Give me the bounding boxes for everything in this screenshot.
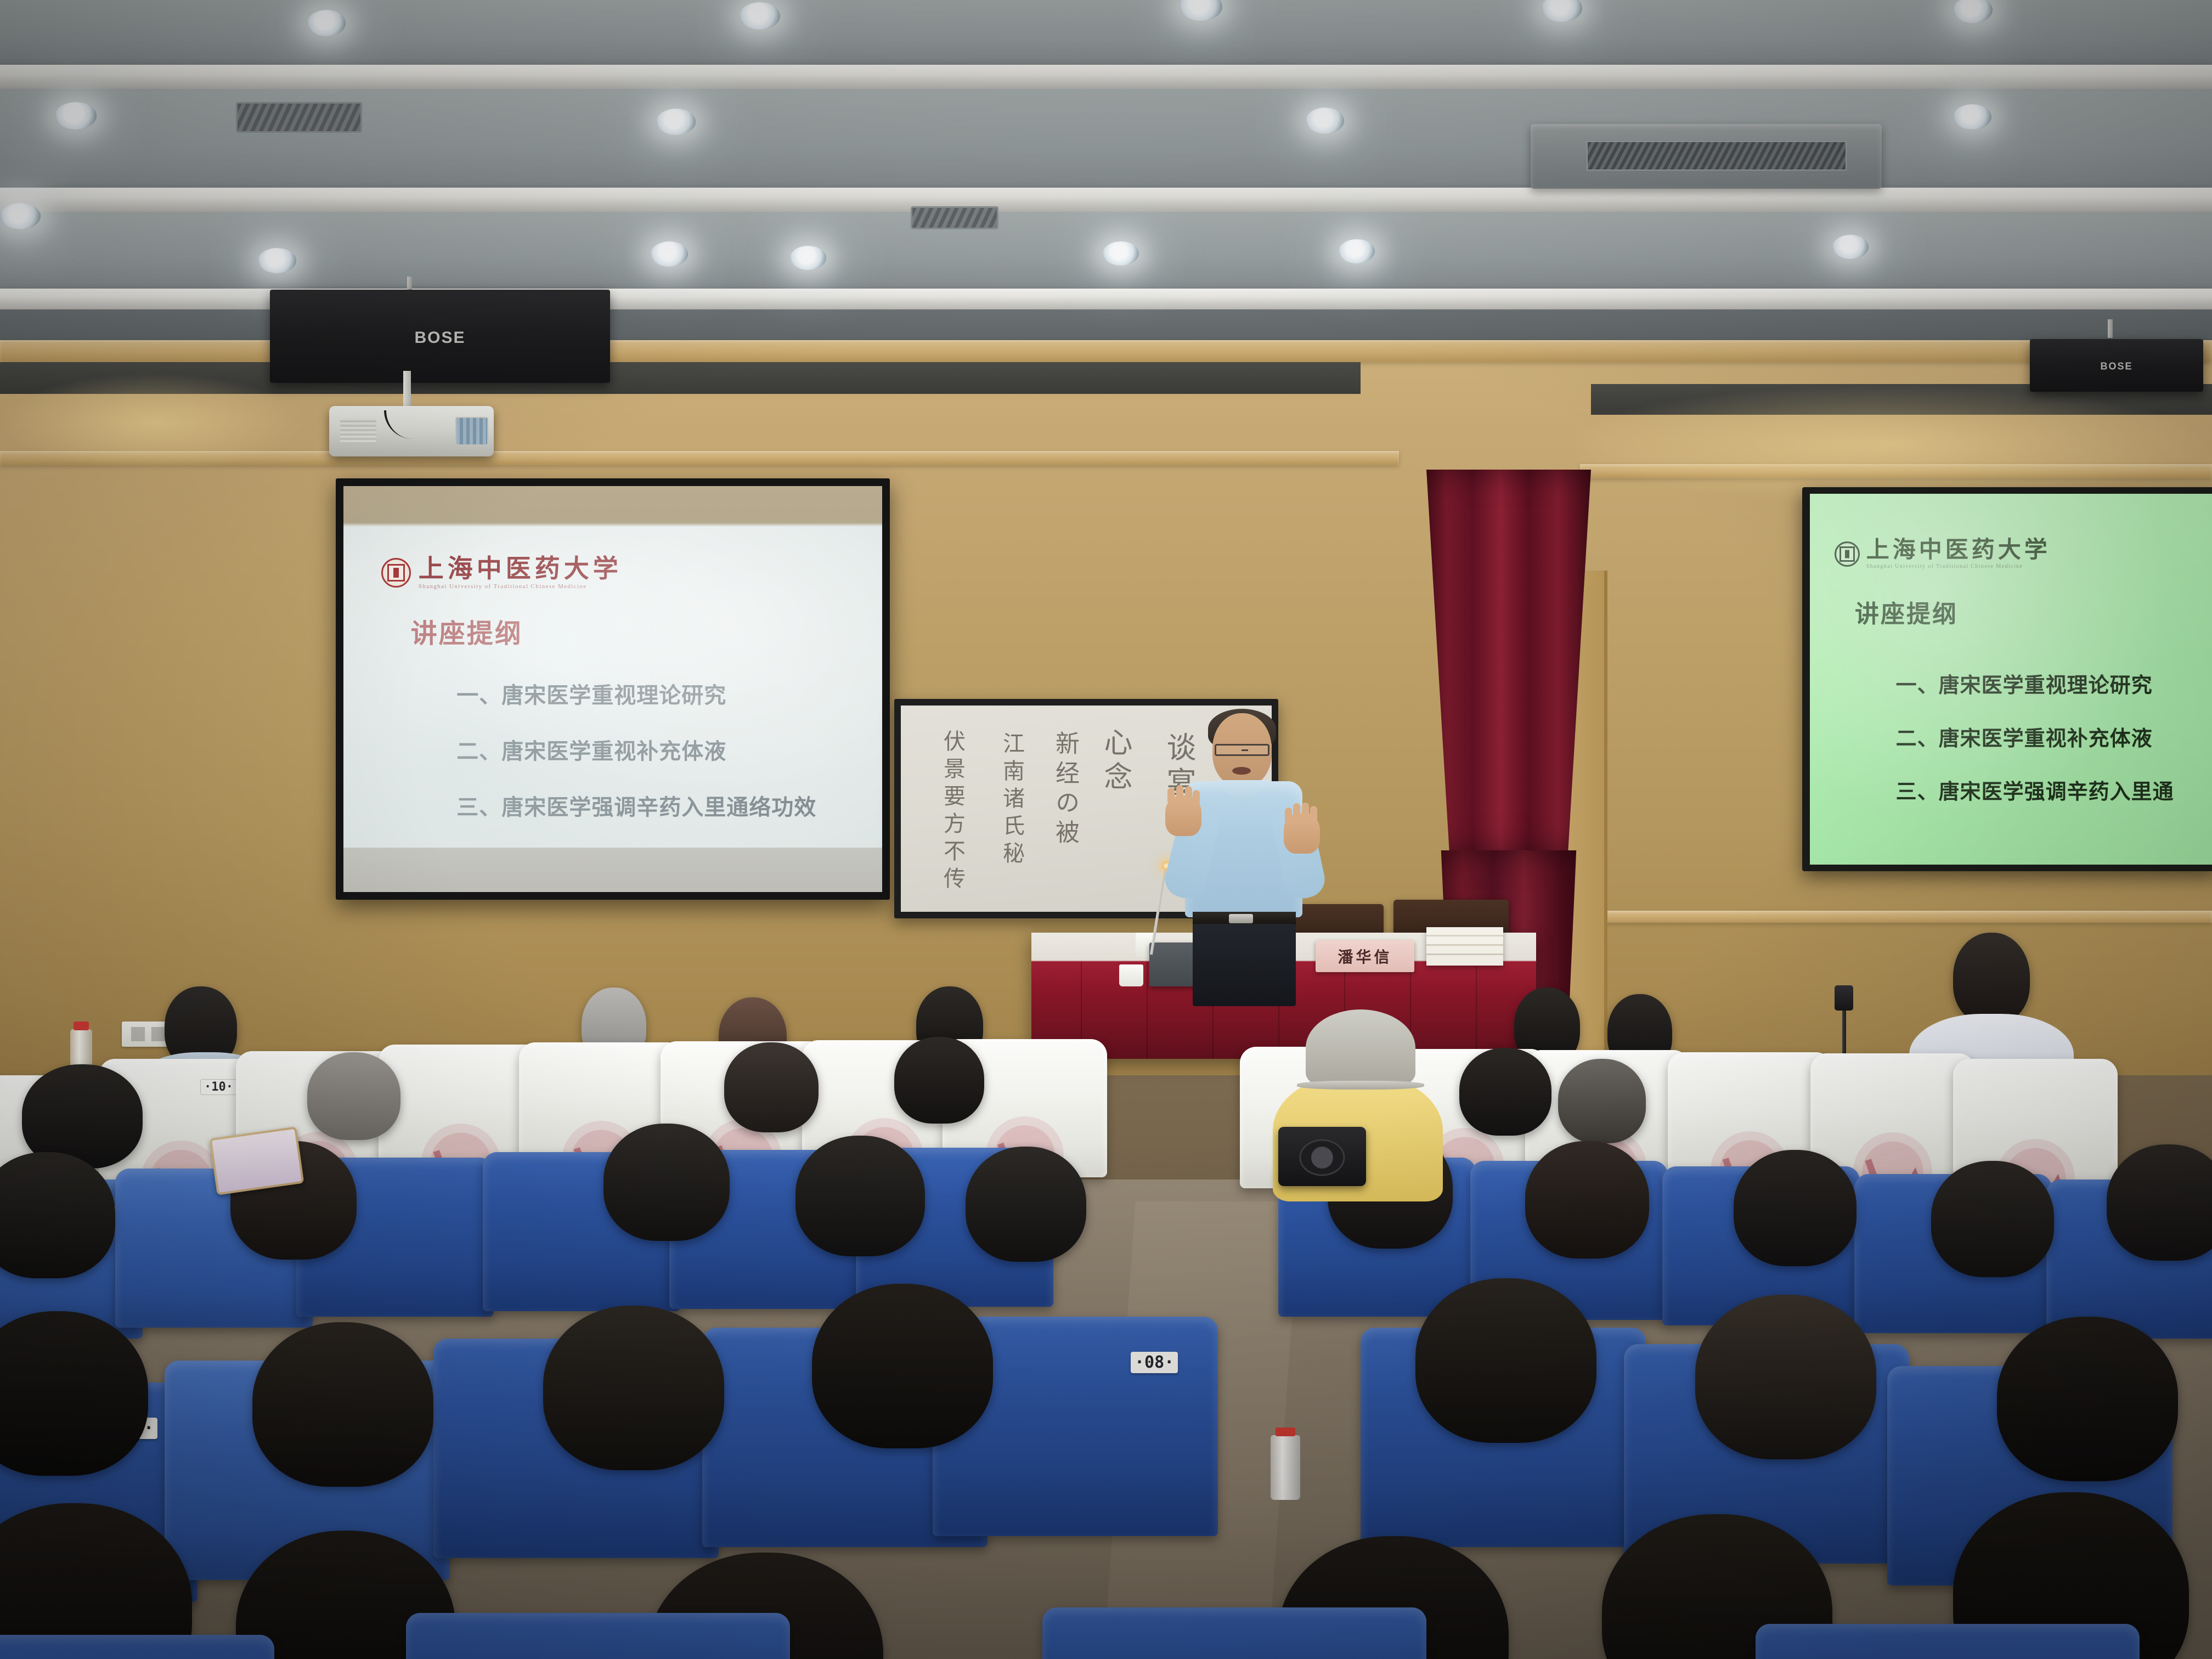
whiteboard-column: 心念 (1099, 727, 1131, 795)
audience-head (966, 1147, 1086, 1262)
slide-outline-item: 二、唐宋医学重视补充体液 (456, 733, 866, 765)
ceiling-downlight (307, 10, 346, 36)
whiteboard-column: 伏景要方不传 (940, 730, 964, 894)
slide-outline-item: 三、唐宋医学强调辛药入里通络功效 (456, 789, 866, 821)
stage-curtain-upper (1426, 470, 1591, 854)
wall-trim-mid (0, 451, 1399, 465)
phone-screen (212, 1129, 302, 1193)
camera-lens (1299, 1139, 1345, 1176)
audience-head (1931, 1161, 2054, 1277)
university-name-cn: 上海中医药大学 (1866, 538, 2051, 561)
wall-trim-right (1580, 464, 2212, 478)
hvac-cassette-slats (1587, 141, 1847, 171)
bose-logo-right: BOSE (2100, 360, 2132, 372)
presenter (1164, 713, 1329, 998)
auditorium-seat-foreground[interactable] (406, 1613, 790, 1659)
ceiling-downlight (740, 2, 780, 30)
slide-outline-item: 一、唐宋医学重视理论研究 (456, 678, 866, 709)
bose-speaker-left: BOSE (270, 290, 610, 383)
slide-outline-list: 一、唐宋医学重视理论研究 二、唐宋医学重视补充体液 三、唐宋医学强调辛药入里通络… (456, 678, 866, 845)
monitor-outline-item: 三、唐宋医学强调辛药入里通 (1896, 775, 2212, 805)
university-name-en: Shanghai University of Traditional Chine… (1866, 563, 2051, 569)
audience-head (812, 1284, 993, 1448)
auditorium-seat-foreground[interactable] (0, 1635, 274, 1659)
university-name-cn: 上海中医药大学 (419, 556, 622, 581)
book-stack (1426, 927, 1503, 966)
nameplate-text: 潘华信 (1338, 945, 1392, 967)
audience-head (795, 1136, 925, 1256)
slide-university-logo: 上海中医药大学 Shanghai University of Tradition… (381, 556, 622, 590)
projection-screen-surface: 上海中医药大学 Shanghai University of Tradition… (343, 486, 882, 892)
hvac-vent (236, 102, 362, 133)
monitor-slide-title: 讲座提纲 (1855, 594, 1958, 629)
ceiling-downlight (790, 246, 826, 270)
monitor-university-logo: 上海中医药大学 Shanghai University of Tradition… (1835, 538, 2051, 569)
audience-head (307, 1052, 400, 1140)
water-bottle (1271, 1435, 1300, 1500)
speaker-mount-right (2108, 319, 2113, 338)
monitor-outline-list: 一、唐宋医学重视理论研究 二、唐宋医学重视补充体液 三、唐宋医学强调辛药入里通 (1896, 668, 2212, 828)
ceiling-downlight (0, 203, 41, 229)
whiteboard-column: 新经の被 (1052, 731, 1079, 849)
audience-head (1997, 1317, 2178, 1481)
auditorium-seat-foreground[interactable] (1042, 1607, 1426, 1659)
monitor-outline-item: 二、唐宋医学重视补充体液 (1896, 721, 2212, 752)
dslr-camera[interactable] (1278, 1127, 1366, 1186)
audience-head (1695, 1295, 1876, 1459)
presenter-glasses (1215, 744, 1269, 756)
confidence-monitor-surface: 上海中医药大学 Shanghai University of Tradition… (1810, 494, 2212, 865)
presenter-left-hand (1165, 795, 1201, 836)
monitor-outline-item: 一、唐宋医学重视理论研究 (1896, 668, 2212, 698)
water-bottle (70, 1029, 92, 1069)
audience-head (2107, 1144, 2212, 1261)
ceiling-downlight (1339, 239, 1375, 263)
audience-head (252, 1322, 433, 1487)
hvac-vent (911, 206, 998, 229)
audience-head (1415, 1278, 1596, 1443)
projector-vent (340, 418, 376, 444)
lecture-hall-photo: BOSE BOSE 上海中医药大学 Shanghai University of… (0, 0, 2212, 1659)
presenter-mouth (1232, 767, 1251, 775)
hvac-cassette-unit (1531, 124, 1882, 189)
audience-head (1525, 1141, 1649, 1259)
projection-screen: 上海中医药大学 Shanghai University of Tradition… (336, 478, 890, 900)
ceiling-downlight (1306, 108, 1344, 134)
university-seal-icon (1835, 541, 1860, 567)
ceiling-downlight (258, 248, 296, 273)
auditorium-seat-foreground[interactable] (1756, 1624, 2140, 1659)
water-cup (1119, 964, 1143, 986)
seat-number: ·10· (200, 1079, 237, 1095)
audience-head (1459, 1048, 1551, 1136)
wall-dark-band (0, 362, 1361, 394)
audience-head (603, 1124, 730, 1241)
university-seal-icon (381, 558, 411, 588)
nameplate: 潘华信 (1316, 940, 1414, 972)
projector-mount-arm (403, 371, 411, 409)
audience-head (724, 1042, 819, 1132)
audience-head (543, 1306, 724, 1470)
ceiling-downlight (1953, 104, 1991, 129)
audience-cap (1306, 1009, 1415, 1086)
bose-logo: BOSE (414, 329, 465, 347)
seat-number: ·08· (1131, 1352, 1178, 1373)
ceiling-downlight (656, 109, 696, 135)
audience-head (1734, 1150, 1857, 1266)
projector-lens (455, 417, 488, 445)
smartphone[interactable] (210, 1126, 304, 1195)
ceiling-downlight (1832, 235, 1869, 259)
presenter-right-hand (1284, 813, 1320, 854)
slide-canvas: 上海中医药大学 Shanghai University of Tradition… (343, 527, 882, 848)
presenter-trousers (1193, 924, 1296, 1006)
audience-head (894, 1037, 984, 1124)
confidence-monitor: 上海中医药大学 Shanghai University of Tradition… (1802, 487, 2212, 871)
whiteboard-column: 江南诸氏秘 (999, 732, 1024, 869)
audience-head (1558, 1059, 1646, 1143)
presenter-belt-buckle (1229, 914, 1253, 923)
audience-head-right-standing (1953, 933, 2030, 1024)
ceiling-downlight (1103, 241, 1139, 266)
university-name-en: Shanghai University of Traditional Chine… (419, 583, 622, 590)
wainscot-rail (1558, 911, 2212, 923)
bose-speaker-right: BOSE (2030, 339, 2203, 392)
phone-gimbal-head[interactable] (1835, 985, 1853, 1011)
ceiling-downlight (651, 241, 688, 267)
ceiling-downlight (55, 102, 97, 129)
slide-title: 讲座提纲 (411, 612, 523, 650)
